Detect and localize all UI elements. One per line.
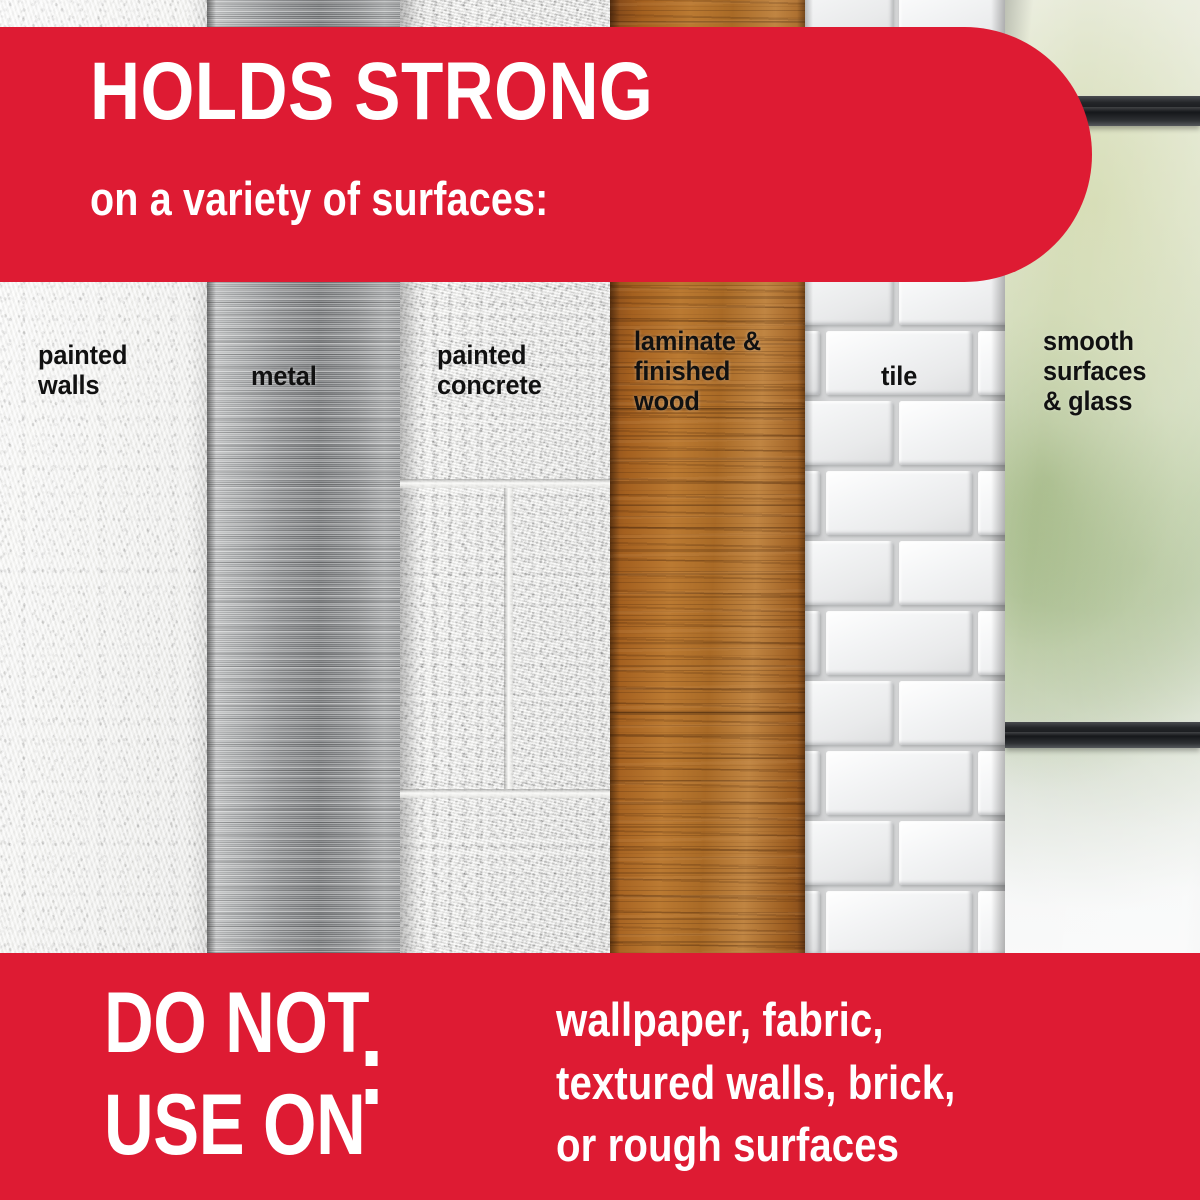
tile-row	[805, 678, 1005, 748]
do-not-use-banner: DO NOT USE ON wallpaper, fabric, texture…	[0, 953, 1200, 1200]
surface-compatibility-infographic: painted walls metal painted concrete lam…	[0, 0, 1200, 1200]
window-frame-bar	[1005, 722, 1200, 748]
excluded-surfaces-list: wallpaper, fabric, textured walls, brick…	[556, 989, 955, 1177]
tile-unit	[826, 751, 972, 815]
colon-dot-upper	[366, 1089, 378, 1104]
tile-unit	[805, 821, 893, 885]
tile-unit	[899, 821, 1005, 885]
tile-unit	[899, 401, 1005, 465]
mortar-joint-horizontal	[400, 789, 610, 798]
tile-unit	[826, 471, 972, 535]
colon-dot-lower	[366, 1051, 378, 1066]
tile-unit	[826, 611, 972, 675]
tile-unit	[805, 681, 893, 745]
tile-unit	[899, 541, 1005, 605]
surface-label-metal: metal	[251, 361, 317, 391]
page-title: HOLDS STRONG	[90, 51, 653, 133]
wood-plank-seam	[610, 712, 805, 715]
mortar-joint-vertical	[504, 488, 513, 789]
surface-label-laminate-wood: laminate & finished wood	[634, 326, 761, 417]
surface-label-painted-walls: painted walls	[38, 340, 127, 400]
warning-heading: DO NOT USE ON	[104, 983, 435, 1166]
holds-strong-banner: HOLDS STRONG on a variety of surfaces:	[0, 27, 1092, 282]
surface-label-tile: tile	[881, 361, 917, 391]
tile-unit	[805, 401, 893, 465]
tile-unit	[805, 541, 893, 605]
surface-label-smooth-glass: smooth surfaces & glass	[1043, 326, 1146, 417]
warning-heading-line-2: USE ON	[104, 1085, 369, 1167]
tile-row	[805, 888, 1005, 958]
warning-line-1-text: DO NOT	[104, 975, 369, 1071]
tile-row	[805, 748, 1005, 818]
warning-line-2-text: USE ON	[104, 1077, 365, 1173]
tile-unit	[899, 681, 1005, 745]
tile-row	[805, 818, 1005, 888]
warning-heading-line-1: DO NOT	[104, 983, 369, 1065]
mortar-joint-horizontal	[400, 479, 610, 488]
tile-unit	[826, 891, 972, 955]
tile-row	[805, 398, 1005, 468]
tile-row	[805, 538, 1005, 608]
tile-row	[805, 468, 1005, 538]
tile-row	[805, 608, 1005, 678]
page-subtitle: on a variety of surfaces:	[90, 175, 548, 222]
surface-label-painted-concrete: painted concrete	[437, 340, 542, 400]
